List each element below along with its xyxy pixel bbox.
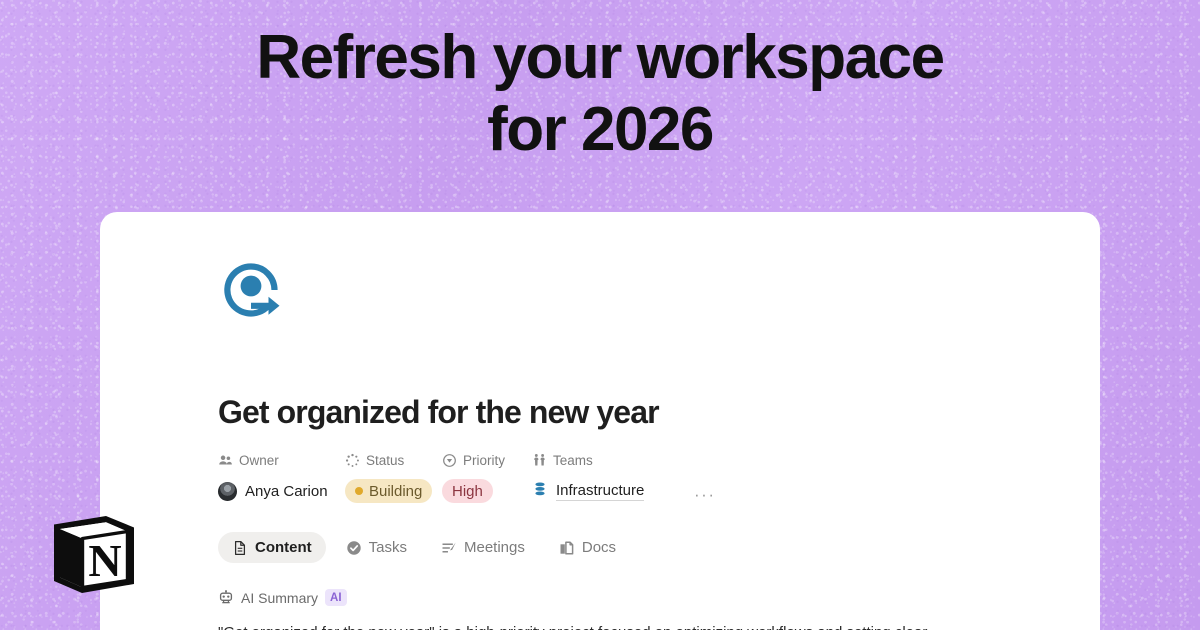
status-badge-label: Building <box>369 484 422 499</box>
robot-icon <box>218 590 234 606</box>
tab-tasks[interactable]: Tasks <box>332 532 421 563</box>
property-priority-value[interactable]: High <box>442 479 532 503</box>
property-priority[interactable]: Priority High <box>442 452 532 503</box>
database-stack-icon <box>532 481 548 501</box>
property-teams-header: Teams <box>532 452 672 469</box>
property-owner-label: Owner <box>239 453 279 468</box>
status-spinner-icon <box>345 453 360 468</box>
page-title: Get organized for the new year <box>218 393 1100 431</box>
properties-more-button[interactable]: ··· <box>694 483 715 507</box>
teams-people-icon <box>532 453 547 468</box>
tab-meetings-label: Meetings <box>464 539 525 556</box>
status-badge: Building <box>345 479 432 503</box>
property-priority-header: Priority <box>442 452 532 469</box>
tab-content[interactable]: Content <box>218 532 326 563</box>
headline-line-2: for 2026 <box>0 94 1200 166</box>
priority-circle-icon <box>442 453 457 468</box>
tab-docs[interactable]: Docs <box>545 532 630 563</box>
tab-meetings[interactable]: Meetings <box>427 532 539 563</box>
tab-tasks-label: Tasks <box>369 539 407 556</box>
notion-cube-logo: N <box>48 508 140 600</box>
owner-name: Anya Carion <box>245 483 328 500</box>
property-owner-header: Owner <box>218 452 345 469</box>
tab-content-label: Content <box>255 539 312 556</box>
app-preview-card: Get organized for the new year Owner <box>100 212 1100 630</box>
property-owner-value[interactable]: Anya Carion <box>218 479 345 503</box>
refresh-target-logo <box>218 257 284 323</box>
property-teams-value[interactable]: Infrastructure <box>532 479 672 503</box>
document-icon <box>232 540 248 556</box>
stacked-docs-icon <box>559 540 575 556</box>
priority-badge-label: High <box>452 484 483 499</box>
priority-badge: High <box>442 479 493 503</box>
notes-pen-icon <box>441 540 457 556</box>
property-teams-label: Teams <box>553 453 593 468</box>
property-teams[interactable]: Teams Infrastructure <box>532 452 672 503</box>
avatar <box>218 482 237 501</box>
tab-docs-label: Docs <box>582 539 616 556</box>
property-status-label: Status <box>366 453 404 468</box>
team-name: Infrastructure <box>556 482 644 501</box>
people-icon <box>218 453 233 468</box>
headline-line-1: Refresh your workspace <box>0 22 1200 94</box>
properties-row: Owner Anya Carion <box>218 452 1100 507</box>
property-status-header: Status <box>345 452 442 469</box>
property-owner[interactable]: Owner Anya Carion <box>218 452 345 503</box>
property-status-value[interactable]: Building <box>345 479 442 503</box>
ai-badge: AI <box>325 589 347 606</box>
property-priority-label: Priority <box>463 453 505 468</box>
ai-summary-label: AI Summary <box>241 590 318 606</box>
hero-headline: Refresh your workspace for 2026 <box>0 22 1200 166</box>
check-circle-icon <box>346 540 362 556</box>
svg-text:N: N <box>88 535 121 586</box>
ai-summary-header: AI Summary AI <box>218 589 1100 606</box>
ai-summary-text: "Get organized for the new year" is a hi… <box>218 621 978 630</box>
property-status[interactable]: Status Building <box>345 452 442 503</box>
status-dot-icon <box>355 487 363 495</box>
tab-bar: Content Tasks <box>218 532 1100 563</box>
ai-summary-section: AI Summary AI "Get organized for the new… <box>218 589 1100 630</box>
